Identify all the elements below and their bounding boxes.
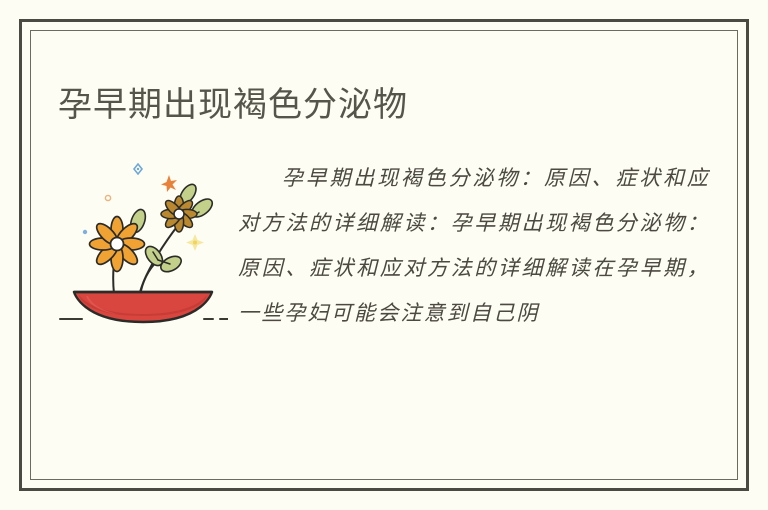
article-card: 孕早期出现褐色分泌物 (0, 0, 768, 510)
dot-orange (105, 195, 110, 200)
page-title: 孕早期出现褐色分泌物 (58, 83, 698, 127)
flower-small (161, 196, 197, 232)
sparkle-blue-diamond (134, 164, 142, 174)
sparkle-orange-star (161, 175, 177, 192)
flower-pot (74, 292, 212, 322)
article-content: 孕早期出现褐色分泌物：原因、症状和应对方法的详细解读：孕早期出现褐色分泌物：原因… (58, 140, 710, 460)
sparkle-yellow (186, 234, 204, 251)
flower-large (90, 217, 145, 272)
leaves (128, 182, 216, 275)
dot-blue (83, 230, 87, 234)
potted-flowers-illustration (58, 140, 228, 326)
article-body-text: 孕早期出现褐色分泌物：原因、症状和应对方法的详细解读：孕早期出现褐色分泌物：原因… (238, 140, 710, 336)
